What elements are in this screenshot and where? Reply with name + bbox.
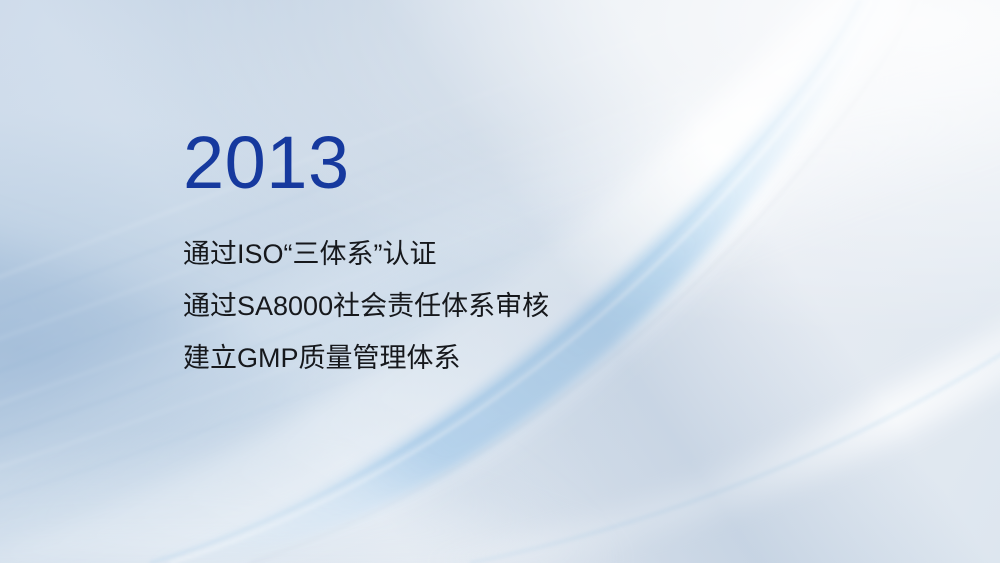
slide-content: 2013 通过ISO“三体系”认证 通过SA8000社会责任体系审核 建立GMP… [183,126,883,384]
year-heading: 2013 [183,126,883,200]
achievement-item-1: 通过ISO“三体系”认证 [183,228,883,280]
achievement-list: 通过ISO“三体系”认证 通过SA8000社会责任体系审核 建立GMP质量管理体… [183,228,883,384]
achievement-item-3: 建立GMP质量管理体系 [183,332,883,384]
slide-canvas: 2013 通过ISO“三体系”认证 通过SA8000社会责任体系审核 建立GMP… [0,0,1000,563]
achievement-item-2: 通过SA8000社会责任体系审核 [183,280,883,332]
